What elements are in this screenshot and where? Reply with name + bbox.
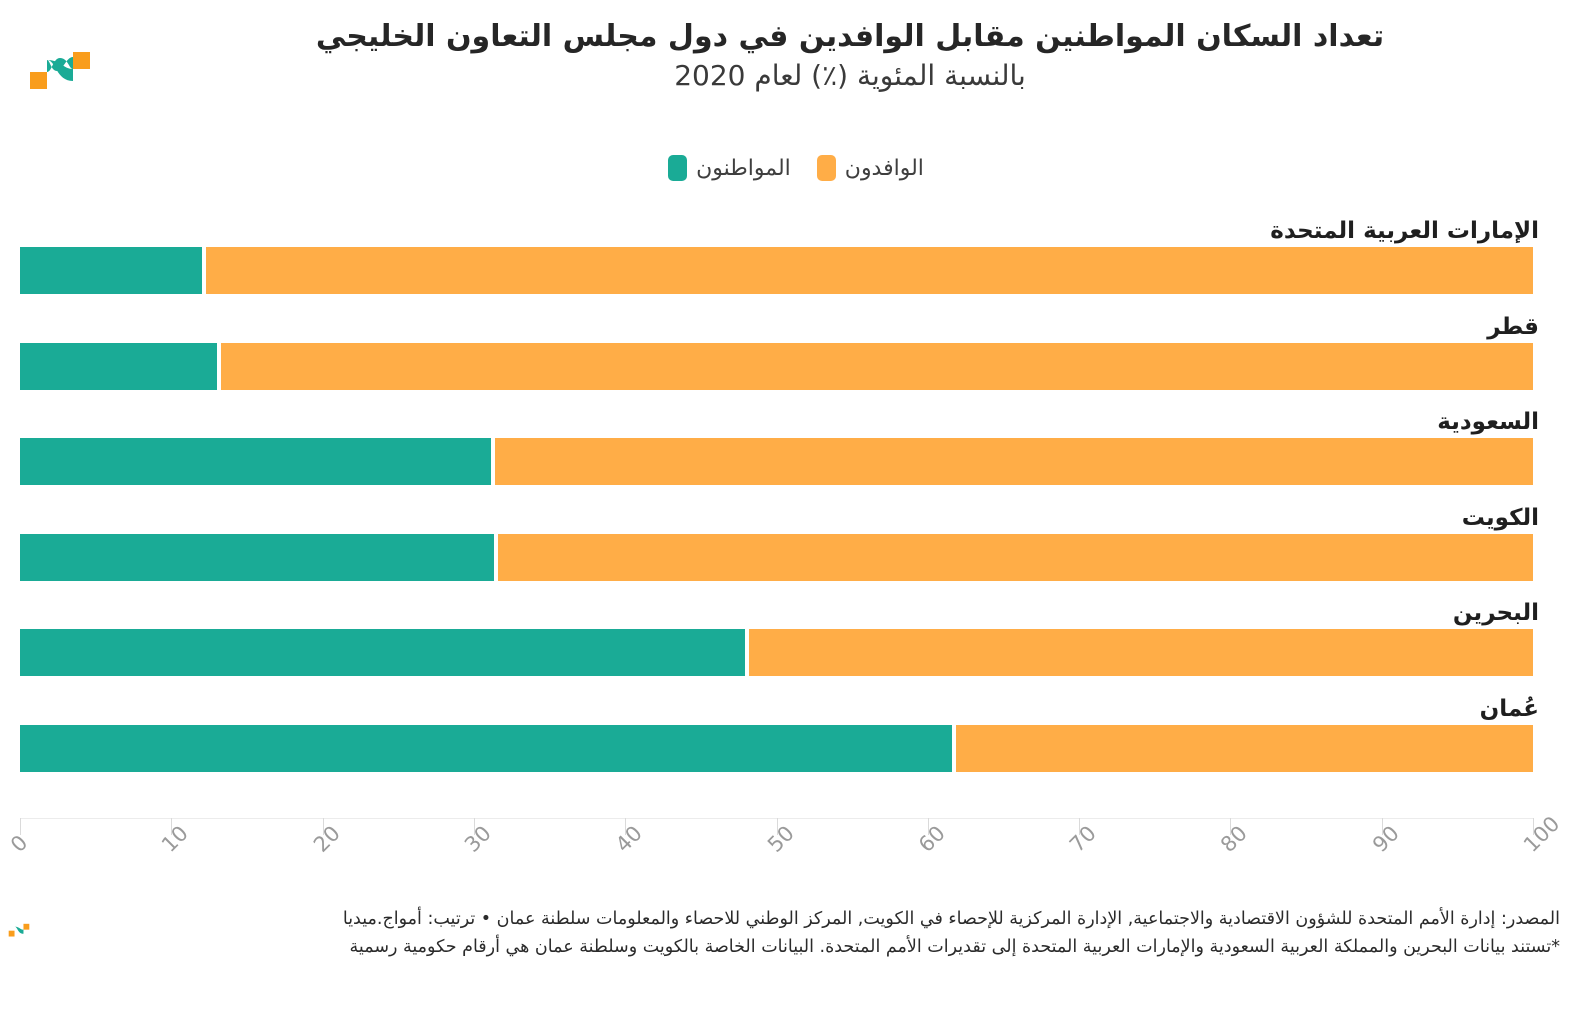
bar-row: السعودية	[20, 438, 1533, 485]
bar-row: قطر	[20, 343, 1533, 390]
bar-segment-citizens[interactable]	[20, 534, 494, 581]
bar-segment-citizens[interactable]	[20, 438, 491, 485]
x-axis-tick-label: 70	[1065, 821, 1101, 857]
x-axis-tick-label: 100	[1519, 812, 1564, 857]
stacked-bar[interactable]	[20, 629, 1533, 676]
footer-notes: المصدر: إدارة الأمم المتحدة للشؤون الاقت…	[40, 905, 1560, 962]
x-axis-tick-label: 80	[1216, 821, 1252, 857]
bar-segment-citizens[interactable]	[20, 725, 952, 772]
bar-row-label: الكويت	[1462, 505, 1539, 531]
bar-row: عُمان	[20, 725, 1533, 772]
bar-segment-expats[interactable]	[495, 438, 1533, 485]
legend-swatch-expats	[817, 155, 836, 181]
chart-page: تعداد السكان المواطنين مقابل الوافدين في…	[0, 0, 1592, 1012]
bar-row-label: قطر	[1487, 314, 1539, 340]
page-subtitle: بالنسبة المئوية (٪) لعام 2020	[140, 58, 1560, 94]
bar-row-label: الإمارات العربية المتحدة	[1270, 218, 1539, 244]
x-axis-tick-label: 40	[611, 821, 647, 857]
x-axis-tick-label: 10	[157, 821, 193, 857]
page-title: تعداد السكان المواطنين مقابل الوافدين في…	[140, 18, 1560, 56]
legend-swatch-citizens	[668, 155, 687, 181]
stacked-bar[interactable]	[20, 343, 1533, 390]
footer-methodology-line: *تستند بيانات البحرين والمملكة العربية ا…	[40, 933, 1560, 961]
legend-label-expats: الوافدون	[845, 156, 924, 181]
bar-row: الكويت	[20, 534, 1533, 581]
bar-segment-expats[interactable]	[221, 343, 1533, 390]
legend-item-citizens[interactable]: المواطنون	[668, 155, 791, 181]
bar-row-label: عُمان	[1480, 696, 1539, 722]
x-axis-tick-label: 0	[6, 831, 32, 857]
title-block: تعداد السكان المواطنين مقابل الوافدين في…	[140, 18, 1560, 95]
stacked-bar[interactable]	[20, 725, 1533, 772]
bar-segment-expats[interactable]	[749, 629, 1533, 676]
legend-item-expats[interactable]: الوافدون	[817, 155, 924, 181]
x-axis-tick-label: 20	[309, 821, 345, 857]
footer-source-line: المصدر: إدارة الأمم المتحدة للشؤون الاقت…	[40, 905, 1560, 933]
stacked-bar[interactable]	[20, 247, 1533, 294]
x-axis-tick-label: 90	[1368, 821, 1404, 857]
bar-segment-expats[interactable]	[956, 725, 1533, 772]
stacked-bar[interactable]	[20, 438, 1533, 485]
bar-segment-citizens[interactable]	[20, 247, 202, 294]
bar-segment-expats[interactable]	[498, 534, 1533, 581]
x-axis: 0102030405060708090100	[20, 818, 1533, 819]
x-axis-tick	[20, 818, 21, 835]
x-axis-tick-label: 30	[460, 821, 496, 857]
bar-segment-citizens[interactable]	[20, 343, 217, 390]
bar-row: الإمارات العربية المتحدة	[20, 247, 1533, 294]
bar-row-label: البحرين	[1453, 600, 1539, 626]
bar-segment-citizens[interactable]	[20, 629, 745, 676]
legend-label-citizens: المواطنون	[696, 156, 791, 181]
x-axis-tick-label: 60	[914, 821, 950, 857]
plot-area: الإمارات العربية المتحدةقطرالسعوديةالكوي…	[20, 214, 1533, 810]
bar-row-label: السعودية	[1437, 409, 1539, 435]
stacked-bar[interactable]	[20, 534, 1533, 581]
bar-segment-expats[interactable]	[206, 247, 1533, 294]
chart-legend: المواطنون الوافدون	[0, 155, 1592, 181]
amwaj-media-logo	[28, 48, 92, 92]
amwaj-media-logo-small	[8, 922, 30, 938]
bar-row: البحرين	[20, 629, 1533, 676]
x-axis-tick-label: 50	[763, 821, 799, 857]
